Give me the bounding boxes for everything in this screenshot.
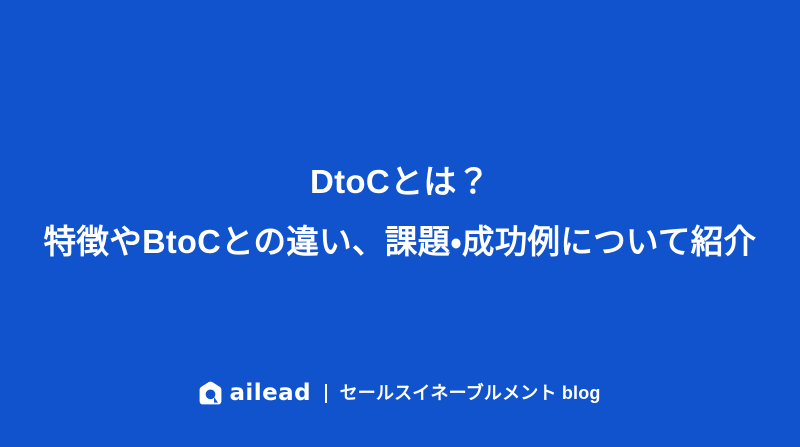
brand-footer: ailead セールスイネーブルメント blog	[0, 381, 800, 405]
ailead-hexagon-logo-icon	[199, 381, 222, 405]
brand-divider	[325, 384, 327, 403]
brand-tagline: セールスイネーブルメント blog	[340, 381, 601, 405]
headline-line-2: 特徴やBtoCとの違い、課題・成功例について紹介	[6, 220, 794, 264]
blog-cover-card: DtoCとは？ 特徴やBtoCとの違い、課題・成功例について紹介 ailead …	[0, 0, 800, 447]
brand-logo-group[interactable]: ailead	[199, 381, 311, 405]
headline-line-1: DtoCとは？	[0, 160, 800, 204]
brand-wordmark: ailead	[229, 381, 311, 405]
headline-block: DtoCとは？ 特徴やBtoCとの違い、課題・成功例について紹介	[0, 160, 800, 264]
